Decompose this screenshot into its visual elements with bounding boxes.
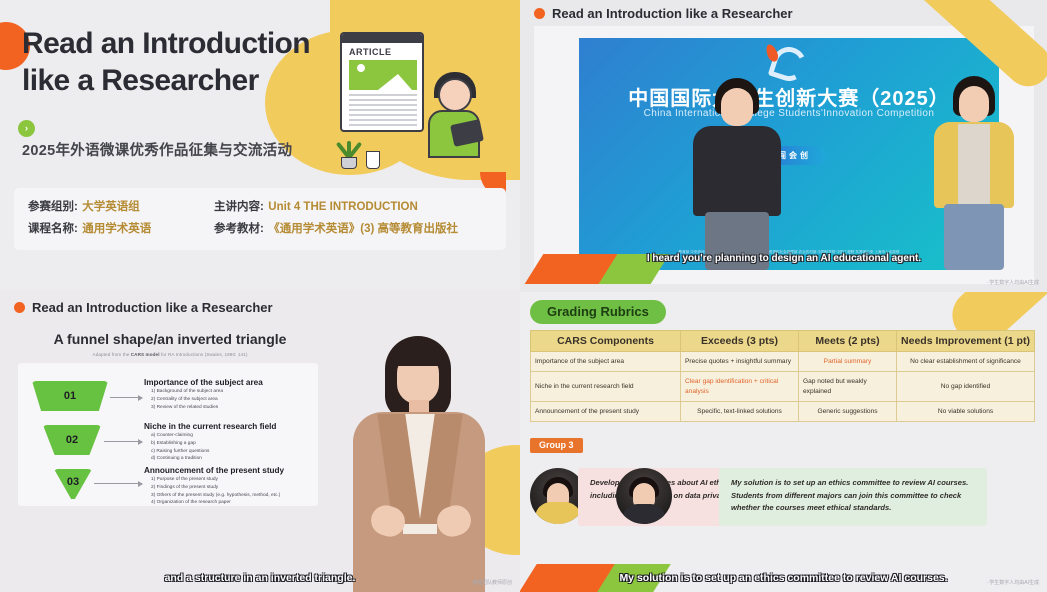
title-line-2: like a Researcher <box>22 64 259 97</box>
funnel-text-block-03: Announcement of the present study 1) Pur… <box>144 466 314 507</box>
column-header-components: CARS Components <box>531 331 681 352</box>
funnel-slide-panel: Read an Introduction like a Researcher A… <box>0 290 520 592</box>
funnel-caption-subtitle: and a structure in an inverted triangle. <box>0 572 520 584</box>
table-row: Niche in the current research field Clea… <box>531 372 1035 402</box>
presenter-figure <box>345 330 495 592</box>
column-header-meets: Meets (2 pts) <box>799 331 897 352</box>
funnel-text-block-02: Niche in the current research field a) C… <box>144 422 314 463</box>
caption-bold: CARS model <box>131 352 160 357</box>
bubble-right: My solution is to set up an ethics commi… <box>719 468 987 526</box>
article-text-lines <box>349 94 417 128</box>
funnel-item: a) Counter-claiming <box>144 432 314 440</box>
info-value-0: 大学英语组 <box>82 201 140 213</box>
cup-icon <box>366 151 380 169</box>
video-stage[interactable]: 中国国际大学生创新大赛（2025） China International Co… <box>534 26 1034 284</box>
chevron-right-icon: › <box>18 120 35 137</box>
column-header-needs: Needs Improvement (1 pt) <box>897 331 1035 352</box>
grading-rubrics-table: CARS Components Exceeds (3 pts) Meets (2… <box>530 330 1035 422</box>
presenter-fringe <box>393 344 443 366</box>
cell-component: Niche in the current research field <box>531 372 681 402</box>
student-avatar-male <box>616 468 672 524</box>
funnel-item: 3) Review of the related studies <box>144 404 314 412</box>
cell-needs: No clear establishment of significance <box>897 352 1035 372</box>
title-line-1: Read an Introduction <box>22 27 310 60</box>
caption-pre: Adapted from the <box>93 352 131 357</box>
plant-icon <box>338 139 360 169</box>
funnel-heading-01: Importance of the subject area <box>144 378 314 387</box>
rubric-caption-subtitle: My solution is to set up an ethics commi… <box>520 572 1047 584</box>
cell-meets: Gap noted but weakly explained <box>799 372 897 402</box>
video-panel-header: Read an Introduction like a Researcher <box>534 6 793 21</box>
funnel-arrow-01 <box>110 397 142 398</box>
funnel-item: 2) Findings of the present study <box>144 484 314 492</box>
cell-component: Announcement of the present study <box>531 402 681 422</box>
info-item-3: 参考教材: 《通用学术英语》(3) 高等教育出版社 <box>214 219 492 241</box>
info-key-1: 主讲内容: <box>214 201 264 213</box>
screenshot-root: Read an Introduction like a Researcher ›… <box>0 0 1047 592</box>
funnel-watermark: · 课程团队教师原创 <box>469 579 512 586</box>
funnel-item: 4) Organization of the research paper <box>144 499 314 507</box>
avatar-male-face <box>721 88 753 126</box>
cell-meets: Generic suggestions <box>799 402 897 422</box>
info-item-0: 参赛组别: 大学英语组 <box>28 197 214 219</box>
funnel-arrow-02 <box>104 441 142 442</box>
video-caption-subtitle: I heard you're planning to design an AI … <box>534 253 1034 264</box>
laptop-titlebar <box>342 34 422 43</box>
funnel-header-label: Read an Introduction like a Researcher <box>32 300 273 315</box>
funnel-item: 3) Others of the present study (e.g. hyp… <box>144 492 314 500</box>
avatar-female <box>924 74 1024 270</box>
table-row: Importance of the subject area Precise q… <box>531 352 1035 372</box>
funnel-item: 2) Centrality of the subject area <box>144 396 314 404</box>
illustration-person-head <box>438 78 472 112</box>
info-key-0: 参赛组别: <box>28 201 78 213</box>
funnel-slide-header: Read an Introduction like a Researcher <box>14 300 273 315</box>
funnel-diagram: 01 02 03 Importance of the subject area … <box>18 363 318 506</box>
article-image-placeholder <box>349 60 417 90</box>
avatar-female-face <box>959 86 989 122</box>
funnel-source-caption: Adapted from the CARS model for RA Intro… <box>0 352 340 357</box>
funnel-heading-02: Niche in the current research field <box>144 422 314 431</box>
funnel-number-01: 01 <box>32 391 108 402</box>
student-responses: Develop online courses about AI ethics f… <box>530 462 1035 534</box>
article-illustration: ARTICLE <box>332 26 482 171</box>
rubric-panel: Grading Rubrics CARS Components Exceeds … <box>520 292 1047 592</box>
group-badge: Group 3 <box>530 438 583 453</box>
cell-meets: Partial summary <box>799 352 897 372</box>
video-panel: Read an Introduction like a Researcher 中… <box>520 0 1047 292</box>
info-value-2: 通用学术英语 <box>82 223 151 235</box>
table-header-row: CARS Components Exceeds (3 pts) Meets (2… <box>531 331 1035 352</box>
orange-bullet-icon <box>534 8 545 19</box>
info-key-3: 参考教材: <box>214 223 264 235</box>
course-info-bar: 参赛组别: 大学英语组 主讲内容: Unit 4 THE INTRODUCTIO… <box>14 188 506 250</box>
cell-exceeds: Precise quotes + insightful summary <box>681 352 799 372</box>
cell-exceeds: Specific, text-linked solutions <box>681 402 799 422</box>
funnel-number-03: 03 <box>54 477 92 488</box>
competition-banner: 中国国际大学生创新大赛（2025） China International Co… <box>579 38 999 270</box>
grading-rubrics-badge: Grading Rubrics <box>530 300 666 324</box>
funnel-title: A funnel shape/an inverted triangle <box>0 331 340 347</box>
cell-needs: No gap identified <box>897 372 1035 402</box>
funnel-item: d) Continuing a tradition <box>144 455 314 463</box>
funnel-item: b) Establishing a gap <box>144 440 314 448</box>
video-watermark: · 学生数字人均由AI生成 <box>986 279 1039 286</box>
info-value-3: 《通用学术英语》(3) 高等教育出版社 <box>268 223 458 235</box>
info-key-2: 课程名称: <box>28 223 78 235</box>
video-header-label: Read an Introduction like a Researcher <box>552 6 793 21</box>
funnel-arrow-03 <box>94 483 142 484</box>
column-header-exceeds: Exceeds (3 pts) <box>681 331 799 352</box>
avatar-male-shirt <box>693 126 781 216</box>
table-row: Announcement of the present study Specif… <box>531 402 1035 422</box>
cell-component: Importance of the subject area <box>531 352 681 372</box>
funnel-heading-03: Announcement of the present study <box>144 466 314 475</box>
avatar-female-top <box>958 124 990 204</box>
info-value-1: Unit 4 THE INTRODUCTION <box>268 201 418 213</box>
article-label: ARTICLE <box>349 47 392 57</box>
info-item-2: 课程名称: 通用学术英语 <box>28 219 214 241</box>
title-slide-panel: Read an Introduction like a Researcher ›… <box>0 0 520 290</box>
caption-post: for RA Introductions (Swales, 1990: 141) <box>160 352 248 357</box>
cell-exceeds: Clear gap identification + critical anal… <box>681 372 799 402</box>
laptop-icon: ARTICLE <box>340 32 424 132</box>
orange-bullet-icon <box>14 302 25 313</box>
rubric-watermark: · 学生数字人均由AI生成 <box>986 579 1039 586</box>
funnel-item: 1) Purpose of the present study <box>144 476 314 484</box>
funnel-item: c) Raising further questions <box>144 448 314 456</box>
cell-needs: No viable solutions <box>897 402 1035 422</box>
funnel-number-02: 02 <box>43 435 101 446</box>
info-item-1: 主讲内容: Unit 4 THE INTRODUCTION <box>214 197 492 219</box>
funnel-item: 1) Background of the subject area <box>144 388 314 396</box>
funnel-text-block-01: Importance of the subject area 1) Backgr… <box>144 378 314 411</box>
avatar-male <box>689 74 785 270</box>
